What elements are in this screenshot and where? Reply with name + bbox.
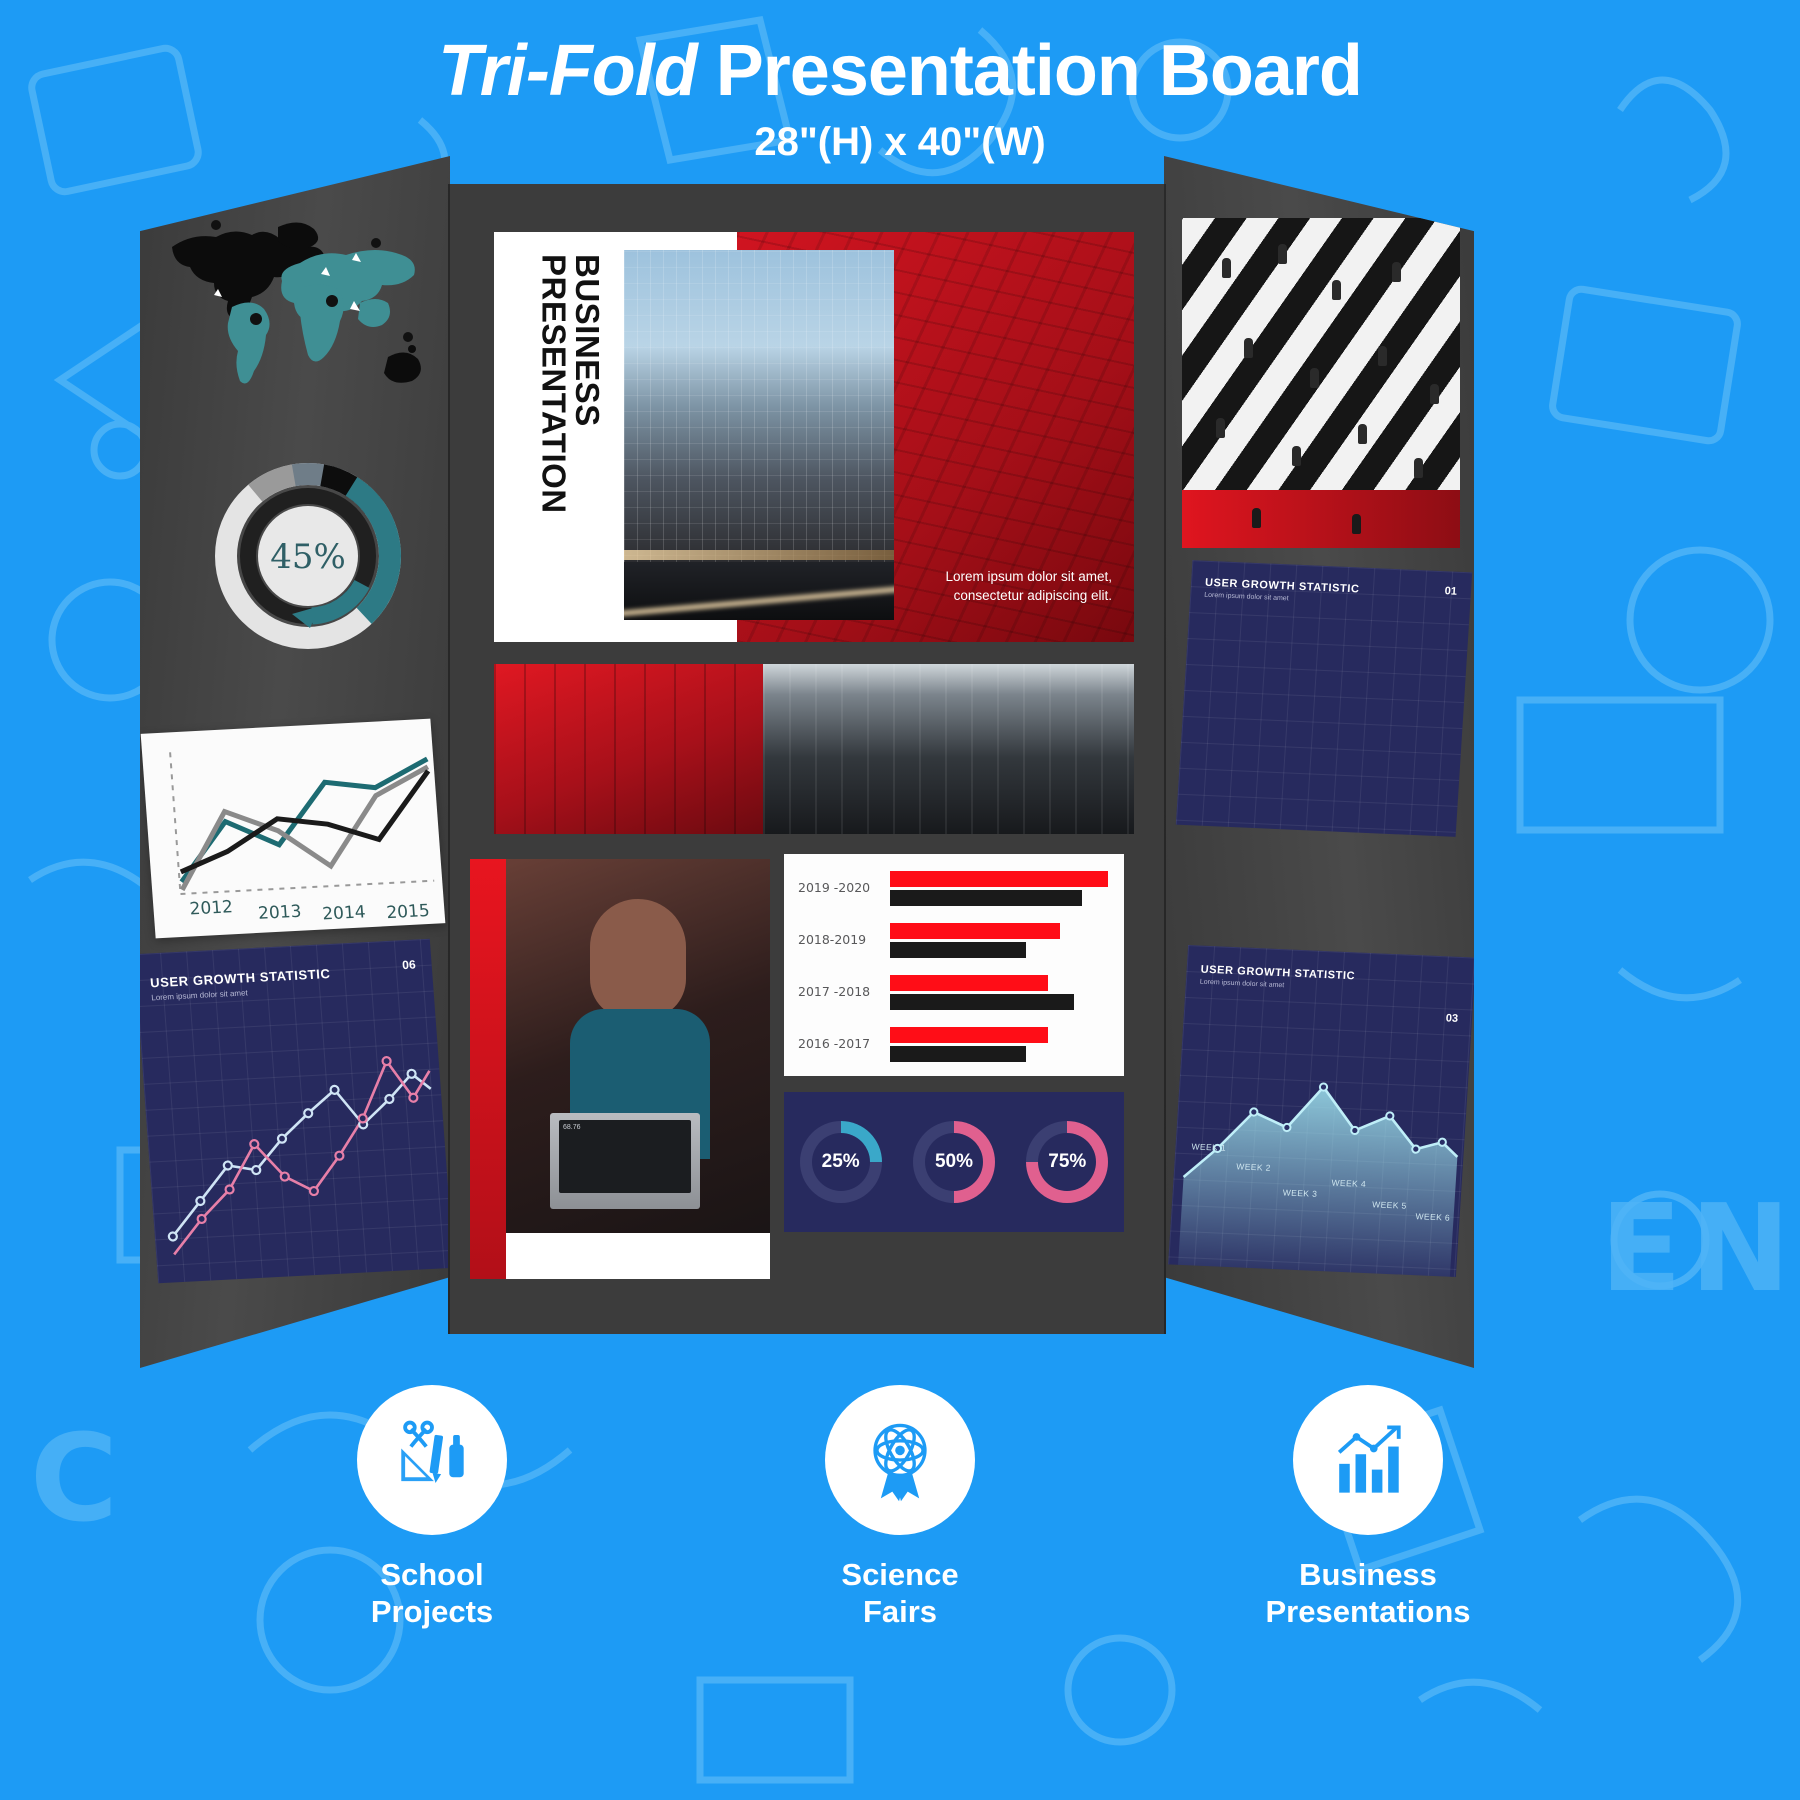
bar-red bbox=[890, 1027, 1048, 1043]
bar-label: 2016 -2017 bbox=[798, 1036, 870, 1051]
feature-label-line2: Projects bbox=[371, 1594, 493, 1629]
feature-list: School Projects Science Fairs bbox=[0, 1385, 1800, 1630]
feature-label-line1: Science bbox=[841, 1557, 958, 1592]
feature-school-projects: School Projects bbox=[282, 1385, 582, 1630]
laptop-screen: 68.76 bbox=[559, 1120, 691, 1193]
percent-donut: 25% bbox=[800, 1121, 882, 1203]
user-growth-card-03: USER GROWTH STATISTIC Lorem ipsum dolor … bbox=[1168, 945, 1476, 1277]
craft-supplies-icon bbox=[357, 1385, 507, 1535]
trifold-board: 45% 2012 2013 2014 2015 USER GROWTH STAT… bbox=[0, 140, 1800, 1360]
percent-donut-label: 25% bbox=[812, 1133, 870, 1191]
week-label: WEEK 5 bbox=[1372, 1199, 1407, 1210]
bar-row: 2018-2019 bbox=[798, 920, 1110, 964]
page-header: Tri-Fold Presentation Board 28"(H) x 40"… bbox=[0, 34, 1800, 165]
percent-donut-label: 75% bbox=[1038, 1133, 1096, 1191]
hero-slide: BUSINESSPRESENTATION Lorem ipsum dolor s… bbox=[494, 232, 1134, 642]
page-title-italic: Tri-Fold bbox=[438, 31, 697, 111]
user-growth-card-01: USER GROWTH STATISTIC Lorem ipsum dolor … bbox=[1176, 560, 1472, 837]
page-title: Tri-Fold Presentation Board bbox=[0, 34, 1800, 110]
bar-red bbox=[890, 923, 1060, 939]
hero-vertical-title: BUSINESSPRESENTATION bbox=[512, 254, 604, 624]
feature-label-line1: School bbox=[380, 1557, 483, 1592]
bar-label: 2017 -2018 bbox=[798, 984, 870, 999]
bar-red bbox=[890, 871, 1108, 887]
user-growth-card-06: USER GROWTH STATISTIC Lorem ipsum dolor … bbox=[134, 939, 454, 1284]
week-label: WEEK 1 bbox=[1191, 1141, 1226, 1152]
bar-label: 2019 -2020 bbox=[798, 880, 870, 895]
crosswalk-red-band bbox=[1182, 490, 1460, 548]
white-bottom-bar bbox=[506, 1233, 770, 1279]
bar-black bbox=[890, 994, 1074, 1010]
bar-red bbox=[890, 975, 1048, 991]
bar-label: 2018-2019 bbox=[798, 932, 866, 947]
bar-chart-icon bbox=[1293, 1385, 1443, 1535]
card-number: 06 bbox=[402, 957, 416, 972]
page-subtitle: 28"(H) x 40"(W) bbox=[0, 120, 1800, 165]
bar-black bbox=[890, 1046, 1026, 1062]
feature-science-fairs: Science Fairs bbox=[750, 1385, 1050, 1630]
percent-donut: 50% bbox=[913, 1121, 995, 1203]
week-label: WEEK 4 bbox=[1331, 1177, 1366, 1188]
world-map bbox=[160, 211, 430, 411]
bar-black bbox=[890, 942, 1026, 958]
feature-label-line2: Fairs bbox=[863, 1594, 937, 1629]
feature-label-line2: Presentations bbox=[1265, 1594, 1470, 1629]
fold-crease-left bbox=[448, 184, 450, 1334]
board-right-panel: USER GROWTH STATISTIC Lorem ipsum dolor … bbox=[1164, 156, 1474, 1368]
office-photo-strip bbox=[494, 664, 1134, 834]
feature-label: School Projects bbox=[282, 1557, 582, 1630]
percent-donut-label: 50% bbox=[925, 1133, 983, 1191]
board-center-panel: BUSINESSPRESENTATION Lorem ipsum dolor s… bbox=[448, 184, 1166, 1334]
line-chart-year-2013: 2013 bbox=[257, 902, 302, 924]
atom-award-icon bbox=[825, 1385, 975, 1535]
bar-row: 2017 -2018 bbox=[798, 972, 1110, 1016]
bar-row: 2016 -2017 bbox=[798, 1024, 1110, 1068]
week-label: WEEK 3 bbox=[1283, 1187, 1318, 1198]
line-chart-card: 2012 2013 2014 2015 bbox=[141, 719, 446, 939]
hero-building-photo bbox=[624, 250, 894, 620]
feature-business-presentations: Business Presentations bbox=[1218, 1385, 1518, 1630]
hero-title-line1: BUSINESS bbox=[569, 254, 606, 427]
week-label: WEEK 2 bbox=[1236, 1161, 1271, 1172]
fold-crease-right bbox=[1164, 184, 1166, 1334]
red-accent-stripe bbox=[470, 859, 506, 1279]
laptop: 68.76 bbox=[550, 1113, 700, 1209]
hero-caption: Lorem ipsum dolor sit amet, consectetur … bbox=[917, 567, 1112, 606]
line-chart-year-2012: 2012 bbox=[189, 897, 234, 919]
woman-laptop-photo: 68.76 bbox=[470, 859, 770, 1279]
card-number: 01 bbox=[1444, 585, 1457, 598]
page-title-rest: Presentation Board bbox=[697, 31, 1362, 111]
feature-label: Science Fairs bbox=[750, 1557, 1050, 1630]
crosswalk-photo bbox=[1182, 218, 1460, 548]
bar-chart-card: 2019 -2020 2018-2019 2017 -2018 2016 -20… bbox=[784, 854, 1124, 1076]
line-chart-year-2014: 2014 bbox=[322, 902, 367, 924]
percent-donut-strip: 25% 50% 75% bbox=[784, 1092, 1124, 1232]
office-photo-red bbox=[494, 664, 763, 834]
hero-title-line2: PRESENTATION bbox=[535, 254, 572, 514]
feature-label-line1: Business bbox=[1299, 1557, 1437, 1592]
donut-chart-45: 45% bbox=[208, 456, 408, 656]
feature-label: Business Presentations bbox=[1218, 1557, 1518, 1630]
percent-donut: 75% bbox=[1026, 1121, 1108, 1203]
bar-black bbox=[890, 890, 1082, 906]
board-left-panel: 45% 2012 2013 2014 2015 USER GROWTH STAT… bbox=[140, 156, 450, 1368]
bar-row: 2019 -2020 bbox=[798, 868, 1110, 912]
donut-value-text: 45% bbox=[270, 537, 346, 577]
week-label: WEEK 6 bbox=[1415, 1211, 1450, 1222]
card-number: 03 bbox=[1445, 1012, 1458, 1025]
office-photo-dark bbox=[763, 664, 1134, 834]
line-chart-year-2015: 2015 bbox=[386, 901, 431, 923]
